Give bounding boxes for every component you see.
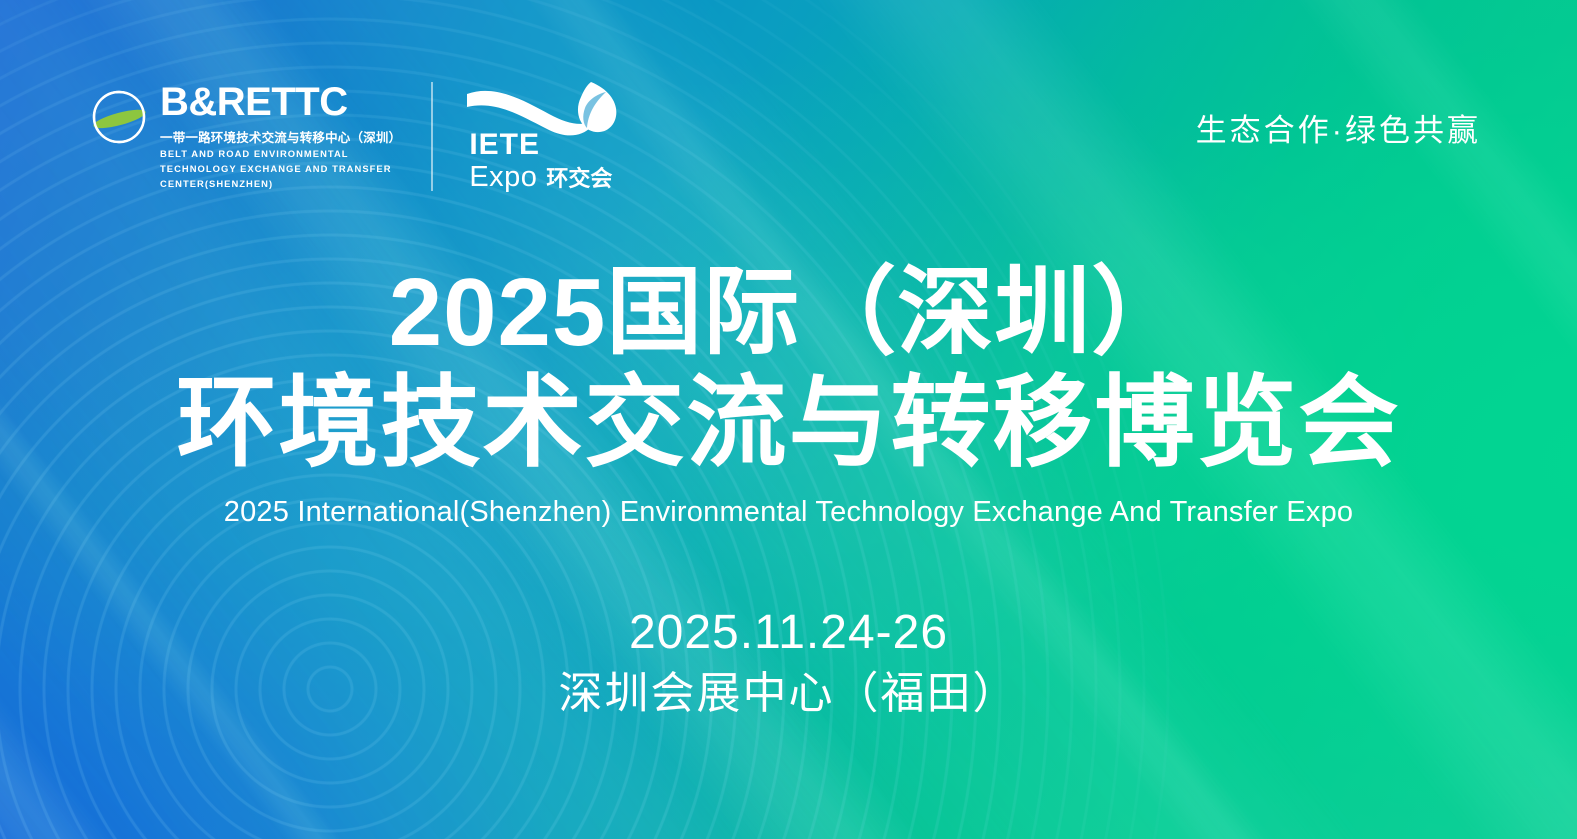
logo-row: B&RETTC 一带一路环境技术交流与转移中心（深圳） BELT AND ROA… xyxy=(88,82,633,191)
brettc-english-line2: TECHNOLOGY EXCHANGE AND TRANSFER xyxy=(160,163,401,176)
banner-content: B&RETTC 一带一路环境技术交流与转移中心（深圳） BELT AND ROA… xyxy=(0,0,1577,839)
globe-sash-icon xyxy=(88,86,150,148)
iete-expo-word: Expo xyxy=(469,163,537,192)
iete-wordmark: IETE Expo 环交会 xyxy=(469,130,612,192)
title-line-1: 2025国际（深圳） xyxy=(0,262,1577,364)
iete-expo-logo: IETE Expo 环交会 xyxy=(465,82,633,188)
slogan-text: 生态合作·绿色共赢 xyxy=(1196,105,1481,150)
iete-acronym: IETE xyxy=(469,130,612,160)
title-block: 2025国际（深圳） 环境技术交流与转移博览会 2025 Internation… xyxy=(0,262,1577,529)
event-banner: B&RETTC 一带一路环境技术交流与转移中心（深圳） BELT AND ROA… xyxy=(0,0,1577,839)
brettc-logo: B&RETTC 一带一路环境技术交流与转移中心（深圳） BELT AND ROA… xyxy=(88,82,433,191)
title-line-2: 环境技术交流与转移博览会 xyxy=(0,368,1577,478)
iete-chinese-word: 环交会 xyxy=(546,168,612,190)
brettc-english-line1: BELT AND ROAD ENVIRONMENTAL xyxy=(160,148,401,161)
iete-subline: Expo 环交会 xyxy=(469,163,612,192)
brettc-name: B&RETTC xyxy=(160,82,401,122)
brettc-text-block: B&RETTC 一带一路环境技术交流与转移中心（深圳） BELT AND ROA… xyxy=(160,82,401,191)
brettc-english-line3: CENTER(SHENZHEN) xyxy=(160,178,401,191)
event-venue: 深圳会展中心（福田） xyxy=(0,668,1577,721)
english-subtitle: 2025 International(Shenzhen) Environment… xyxy=(0,496,1577,529)
brettc-chinese-name: 一带一路环境技术交流与转移中心（深圳） xyxy=(160,127,401,146)
event-details: 2025.11.24-26 深圳会展中心（福田） xyxy=(0,605,1577,720)
event-date: 2025.11.24-26 xyxy=(0,605,1577,662)
